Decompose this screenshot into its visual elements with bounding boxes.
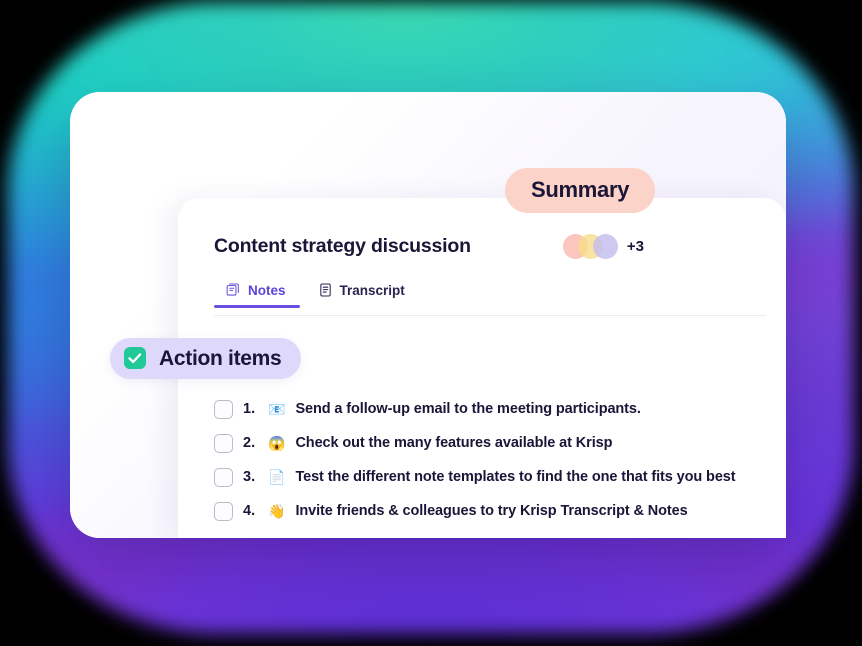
list-item[interactable]: 2. 😱 Check out the many features availab… — [214, 426, 772, 460]
list-item-text: Invite friends & colleagues to try Krisp… — [295, 503, 687, 519]
participants-group: +3 — [563, 234, 644, 259]
list-item-number: 4. — [243, 503, 258, 519]
list-item-text: Check out the many features available at… — [295, 435, 612, 451]
tab-transcript[interactable]: Transcript — [306, 276, 419, 307]
screenshot-stage: Content strategy discussion +3 — [0, 0, 862, 646]
list-item-number: 2. — [243, 435, 258, 451]
list-item-text: Test the different note templates to fin… — [295, 469, 735, 485]
tab-bar-divider — [214, 315, 766, 316]
tab-notes-label: Notes — [248, 283, 286, 298]
email-emoji: 📧 — [268, 402, 285, 416]
tab-transcript-label: Transcript — [340, 283, 405, 298]
checkbox[interactable] — [214, 468, 233, 487]
list-item[interactable]: 1. 📧 Send a follow-up email to the meeti… — [214, 392, 772, 426]
summary-badge[interactable]: Summary — [505, 168, 655, 213]
panel-header: Content strategy discussion +3 — [214, 224, 762, 259]
list-item-number: 3. — [243, 469, 258, 485]
checkbox-checked-icon — [124, 347, 146, 369]
checkbox[interactable] — [214, 434, 233, 453]
checkbox[interactable] — [214, 502, 233, 521]
list-item-text: Send a follow-up email to the meeting pa… — [295, 401, 640, 417]
action-items-list: 1. 📧 Send a follow-up email to the meeti… — [214, 392, 772, 528]
list-item[interactable]: 3. 📄 Test the different note templates t… — [214, 460, 772, 494]
page-title: Content strategy discussion — [214, 237, 471, 257]
page-emoji: 📄 — [268, 470, 285, 484]
tab-bar: Notes Transcript — [214, 276, 419, 307]
waving-hand-emoji: 👋 — [268, 504, 285, 518]
tab-notes[interactable]: Notes — [214, 276, 300, 307]
list-item-number: 1. — [243, 401, 258, 417]
screaming-face-emoji: 😱 — [268, 436, 285, 450]
checkbox[interactable] — [214, 400, 233, 419]
tab-active-indicator — [214, 305, 300, 308]
action-items-label: Action items — [159, 348, 281, 369]
avatar-stack[interactable] — [563, 234, 621, 259]
document-lines-icon — [318, 282, 333, 298]
avatar — [593, 234, 618, 259]
list-item[interactable]: 4. 👋 Invite friends & colleagues to try … — [214, 494, 772, 528]
notes-stack-icon — [226, 282, 241, 298]
action-items-badge[interactable]: Action items — [110, 338, 301, 379]
participants-overflow-count: +3 — [627, 239, 644, 254]
